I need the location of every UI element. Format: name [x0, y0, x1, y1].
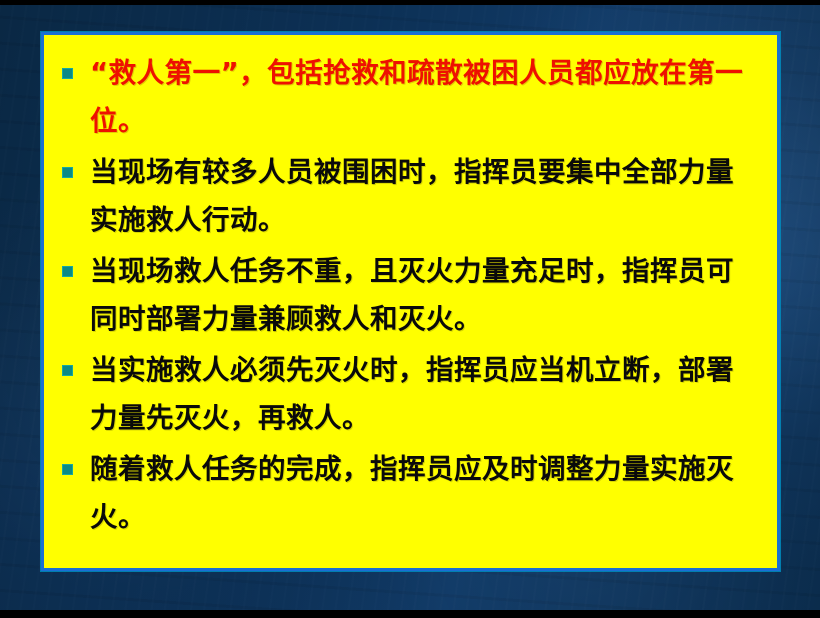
list-item-label: “救人第一”，包括抢救和疏散被困人员都应放在第一位。	[90, 49, 759, 145]
list-item-label: 随着救人任务的完成，指挥员应及时调整力量实施灭火。	[90, 445, 759, 541]
list-item-label: 当现场有较多人员被围困时，指挥员要集中全部力量实施救人行动。	[90, 148, 759, 244]
square-bullet-icon	[62, 68, 73, 79]
square-bullet-icon	[62, 167, 73, 178]
content-panel: “救人第一”，包括抢救和疏散被困人员都应放在第一位。 当现场有较多人员被围困时，…	[41, 32, 780, 571]
bullet-list: “救人第一”，包括抢救和疏散被困人员都应放在第一位。 当现场有较多人员被围困时，…	[54, 49, 759, 541]
list-item-label: 当现场救人任务不重，且灭火力量充足时，指挥员可同时部署力量兼顾救人和灭火。	[90, 247, 759, 343]
list-item: “救人第一”，包括抢救和疏散被困人员都应放在第一位。	[54, 49, 759, 145]
square-bullet-icon	[62, 266, 73, 277]
list-item-label: 当实施救人必须先灭火时，指挥员应当机立断，部署力量先灭火，再救人。	[90, 346, 759, 442]
square-bullet-icon	[62, 365, 73, 376]
list-item: 当现场有较多人员被围困时，指挥员要集中全部力量实施救人行动。	[54, 148, 759, 244]
list-item: 当现场救人任务不重，且灭火力量充足时，指挥员可同时部署力量兼顾救人和灭火。	[54, 247, 759, 343]
square-bullet-icon	[62, 464, 73, 475]
list-item: 当实施救人必须先灭火时，指挥员应当机立断，部署力量先灭火，再救人。	[54, 346, 759, 442]
list-item: 随着救人任务的完成，指挥员应及时调整力量实施灭火。	[54, 445, 759, 541]
letterbox-bottom	[0, 610, 820, 618]
presentation-slide: “救人第一”，包括抢救和疏散被困人员都应放在第一位。 当现场有较多人员被围困时，…	[0, 0, 820, 618]
letterbox-top	[0, 0, 820, 5]
